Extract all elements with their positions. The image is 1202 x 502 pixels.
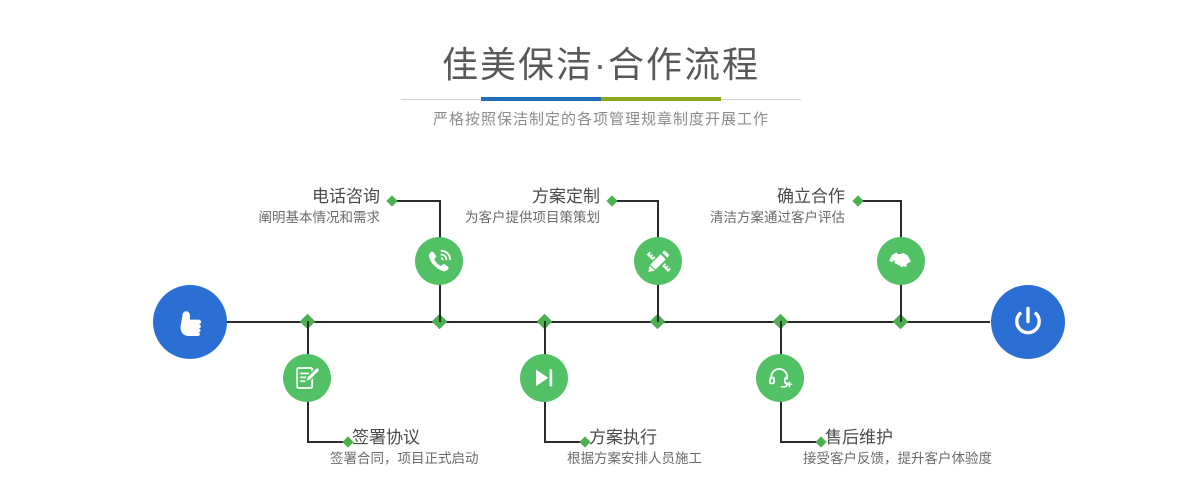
step-desc-6: 接受客户反馈，提升客户体验度: [803, 449, 1165, 469]
step-label-5: 确立合作 清洁方案通过客户评估: [545, 186, 845, 228]
step-icon-2[interactable]: [283, 354, 331, 402]
step-desc-5: 清洁方案通过客户评估: [545, 208, 845, 228]
connector-horizontal-5: [858, 200, 901, 202]
step-icon-1[interactable]: [415, 237, 463, 285]
play-skip-icon: [531, 365, 557, 391]
step-icon-3[interactable]: [634, 237, 682, 285]
document-sign-icon: [294, 365, 320, 391]
headset-support-icon: [767, 365, 793, 391]
phone-call-icon: [425, 247, 453, 275]
step-label-6: 售后维护 接受客户反馈，提升客户体验度: [825, 427, 1165, 469]
handshake-icon: [887, 247, 915, 275]
page-subtitle: 严格按照保洁制定的各项管理规章制度开展工作: [0, 108, 1202, 129]
timeline-start-node: [153, 285, 227, 359]
timeline-end-node: [991, 285, 1065, 359]
step-name-5: 确立合作: [545, 186, 845, 208]
divider-segment-green: [601, 97, 721, 101]
connector-tip-5: [852, 195, 863, 206]
step-icon-5[interactable]: [877, 237, 925, 285]
title-divider: [401, 97, 801, 101]
step-name-6: 售后维护: [825, 427, 1165, 449]
pointing-hand-icon: [170, 302, 210, 342]
step-icon-4[interactable]: [520, 354, 568, 402]
timeline-axis: [215, 321, 990, 323]
power-icon: [1007, 301, 1049, 343]
pencil-ruler-icon: [645, 248, 672, 275]
flow-diagram: 佳美保洁·合作流程 严格按照保洁制定的各项管理规章制度开展工作: [0, 0, 1202, 502]
page-title: 佳美保洁·合作流程: [0, 36, 1202, 88]
divider-segment-blue: [481, 97, 601, 101]
step-icon-6[interactable]: [756, 354, 804, 402]
